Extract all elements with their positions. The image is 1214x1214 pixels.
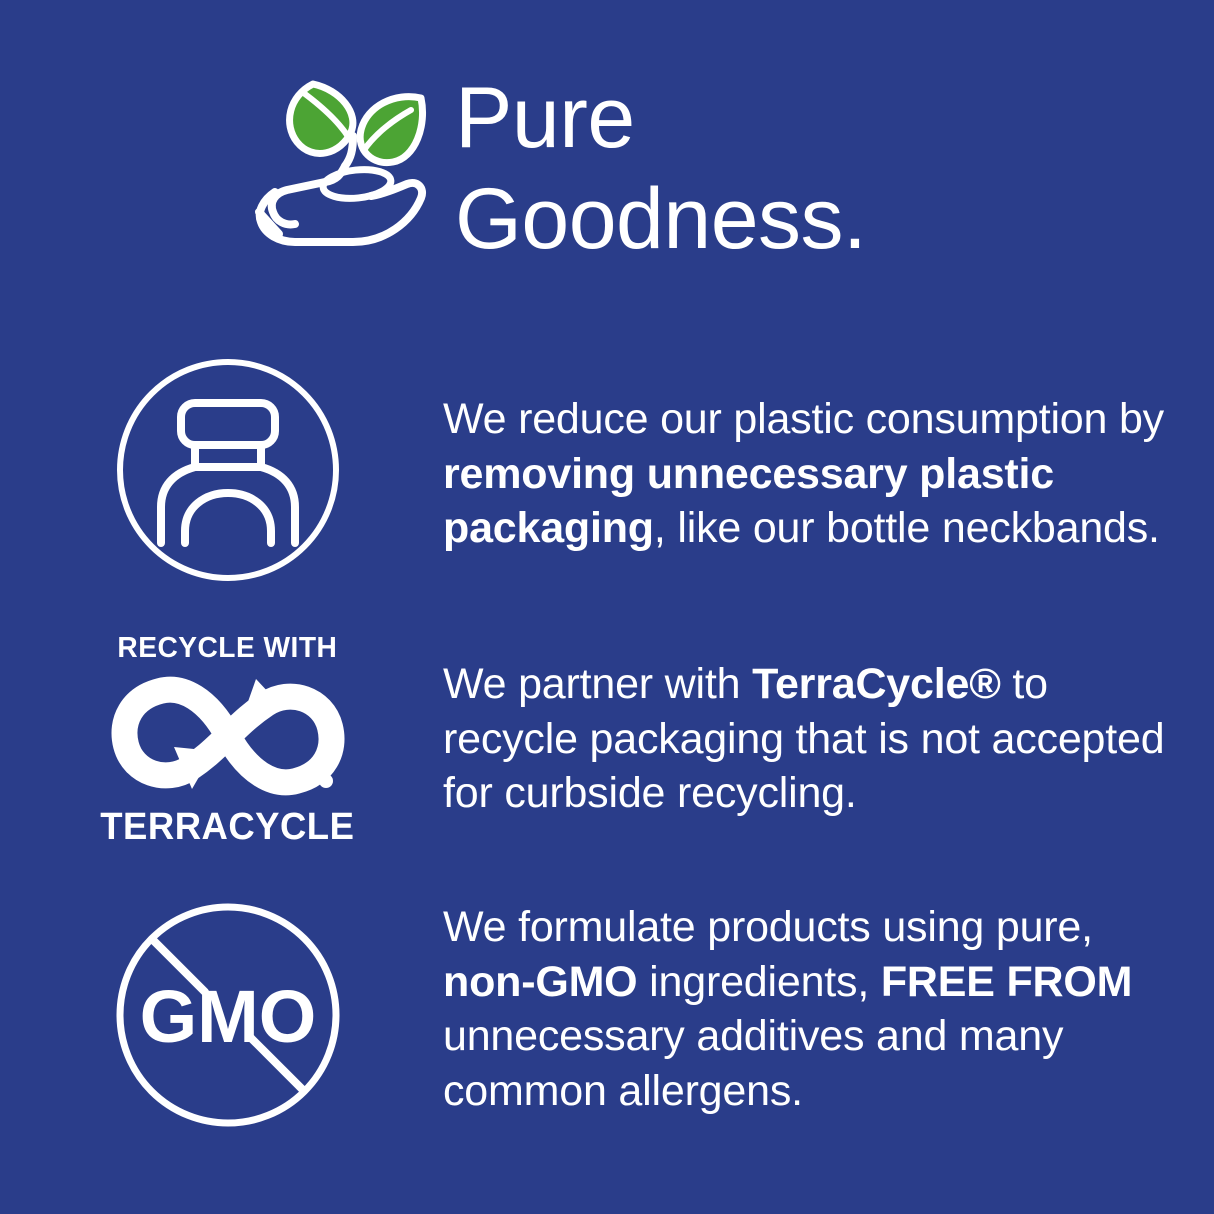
feature-row-plastic: We reduce our plastic consumption by rem…: [0, 345, 1214, 595]
feature-row-gmo: GMO We formulate products using pure, no…: [0, 890, 1214, 1140]
page-title: Pure Goodness.: [455, 68, 1155, 269]
terracycle-logo: RECYCLE WITH TERRACYCLE: [100, 620, 355, 860]
sprout-in-hand-icon: [245, 62, 445, 262]
terracycle-top-label: RECYCLE WITH: [118, 632, 338, 665]
feature-text-terracycle: We partner with TerraCycle® to recycle p…: [443, 657, 1173, 821]
no-gmo-icon: GMO: [100, 890, 355, 1140]
terracycle-bottom-label: TERRACYCLE: [100, 806, 354, 849]
infinity-loop-icon: [108, 669, 348, 804]
feature-row-terracycle: RECYCLE WITH TERRACYCLE We partner with …: [0, 620, 1214, 860]
header: Pure Goodness.: [0, 0, 1214, 300]
feature-text-gmo: We formulate products using pure, non-GM…: [443, 900, 1173, 1118]
pure-goodness-graphic: Pure Goodness. We reduce our plastic con…: [0, 0, 1214, 1214]
bottle-neckband-icon: [100, 345, 355, 595]
feature-text-plastic: We reduce our plastic consumption by rem…: [443, 392, 1173, 556]
no-gmo-label: GMO: [139, 975, 316, 1058]
